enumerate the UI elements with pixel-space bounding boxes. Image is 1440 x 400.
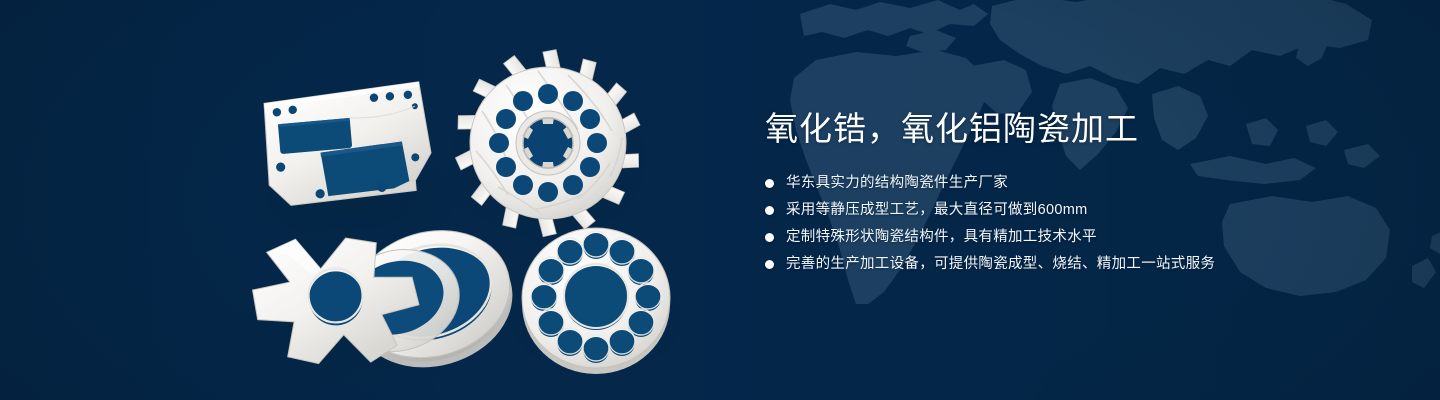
page-title: 氧化锆，氧化铝陶瓷加工 (765, 108, 1325, 150)
list-item: 完善的生产加工设备，可提供陶瓷成型、烧结、精加工一站式服务 (765, 253, 1325, 275)
banner-copy: 氧化锆，氧化铝陶瓷加工 华东具实力的结构陶瓷件生产厂家 采用等静压成型工艺，最大… (765, 108, 1325, 280)
ceramic-mounting-plate (261, 81, 434, 207)
feature-list: 华东具实力的结构陶瓷件生产厂家 采用等静压成型工艺，最大直径可做到600mm 定… (765, 172, 1325, 275)
ceramic-perforated-disc (522, 228, 670, 374)
bullet-dot-icon (765, 206, 774, 215)
list-item: 采用等静压成型工艺，最大直径可做到600mm (765, 199, 1325, 221)
bullet-dot-icon (765, 179, 774, 188)
feature-text: 完善的生产加工设备，可提供陶瓷成型、烧结、精加工一站式服务 (786, 254, 1215, 274)
bullet-dot-icon (765, 260, 774, 269)
feature-text: 华东具实力的结构陶瓷件生产厂家 (786, 173, 1008, 193)
ceramic-processing-banner: 氧化锆，氧化铝陶瓷加工 华东具实力的结构陶瓷件生产厂家 采用等静压成型工艺，最大… (0, 0, 1440, 400)
ceramic-parts-photo (0, 0, 740, 400)
feature-text: 采用等静压成型工艺，最大直径可做到600mm (786, 200, 1087, 220)
bullet-dot-icon (765, 233, 774, 242)
list-item: 华东具实力的结构陶瓷件生产厂家 (765, 172, 1325, 194)
list-item: 定制特殊形状陶瓷结构件，具有精加工技术水平 (765, 226, 1325, 248)
feature-text: 定制特殊形状陶瓷结构件，具有精加工技术水平 (786, 227, 1097, 247)
